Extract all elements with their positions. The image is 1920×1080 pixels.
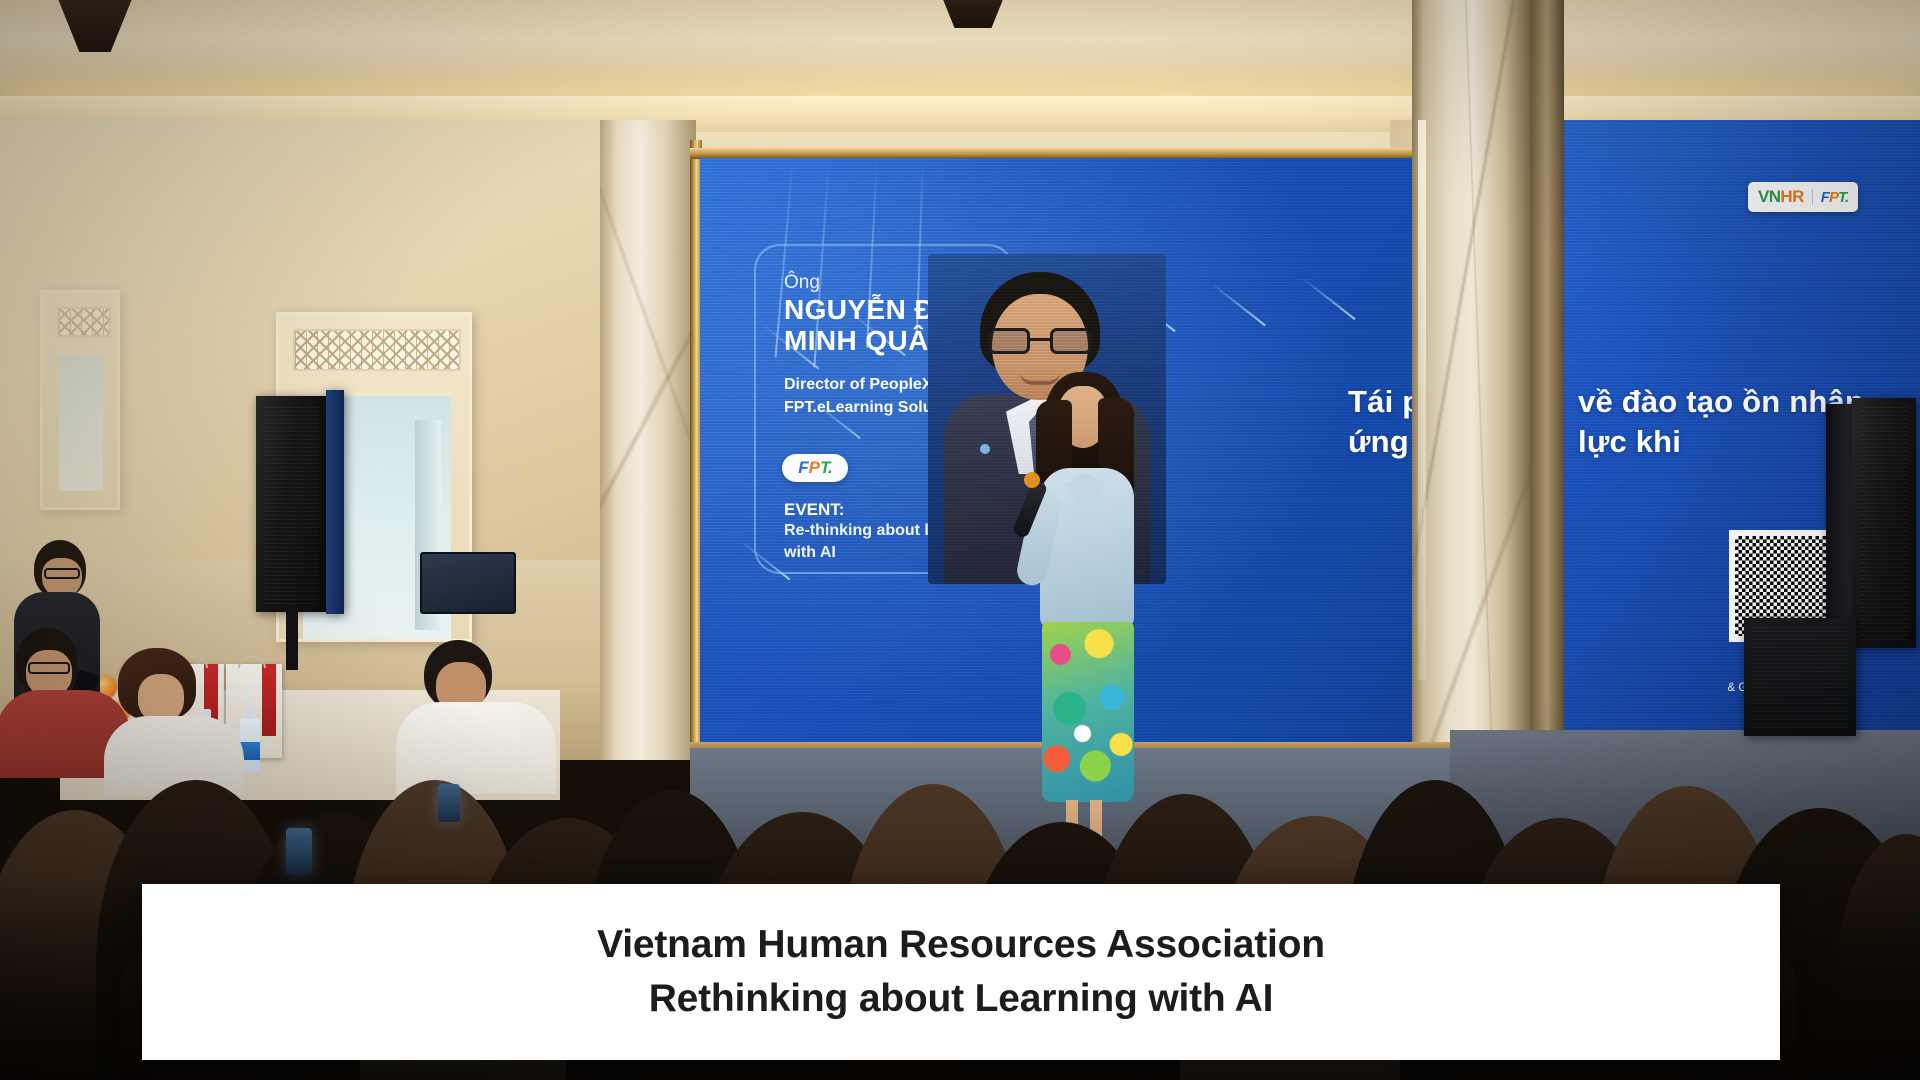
vnhr-logo-icon: VN HR: [1758, 187, 1804, 207]
carved-transom-grille: [293, 329, 461, 371]
transom-pattern: [295, 331, 459, 369]
badge-fpt-p: P: [1829, 189, 1838, 206]
caption-line-1: Vietnam Human Resources Association: [597, 923, 1325, 967]
slide-event-label: EVENT:: [784, 500, 844, 520]
fpt-letter-p: P: [809, 458, 819, 478]
transom-pattern-2: [59, 309, 109, 335]
glasses-lens-left: [988, 328, 1030, 354]
caption-line-2: Rethinking about Learning with AI: [649, 977, 1274, 1021]
fpt-letter-f: F: [798, 458, 807, 478]
fpt-logo-badge-icon: F P T.: [1821, 189, 1848, 206]
vnhr-hr-text: HR: [1780, 187, 1803, 207]
audience-phone-icon: [286, 828, 312, 874]
fpt-logo-icon: F P T.: [782, 454, 848, 482]
glasses-lens-right: [1050, 328, 1092, 354]
badge-divider: [1812, 189, 1813, 205]
vnhr-vn-text: VN: [1758, 187, 1780, 207]
badge-fpt-f: F: [1821, 189, 1829, 206]
portrait-lapel-pin-icon: [980, 444, 990, 454]
portrait-glasses-icon: [988, 328, 1092, 354]
doorway-secondary: [40, 290, 120, 510]
speaker-pretitle: Ông: [784, 272, 820, 294]
fpt-letter-t: T.: [820, 458, 832, 478]
caption-box: Vietnam Human Resources Association Reth…: [142, 884, 1780, 1060]
badge-fpt-t: T.: [1838, 189, 1848, 206]
vnhr-fpt-logo-badge: VN HR F P T.: [1748, 182, 1858, 212]
audience-phone-2-icon: [438, 784, 460, 822]
glasses-bridge: [1030, 338, 1050, 341]
carved-transom-grille-2: [57, 307, 111, 337]
door-opening-2: [59, 351, 103, 491]
conference-photo-stage: Ông NGUYỄN ĐỨC MINH QUÂN Director of Peo…: [0, 0, 1920, 1080]
